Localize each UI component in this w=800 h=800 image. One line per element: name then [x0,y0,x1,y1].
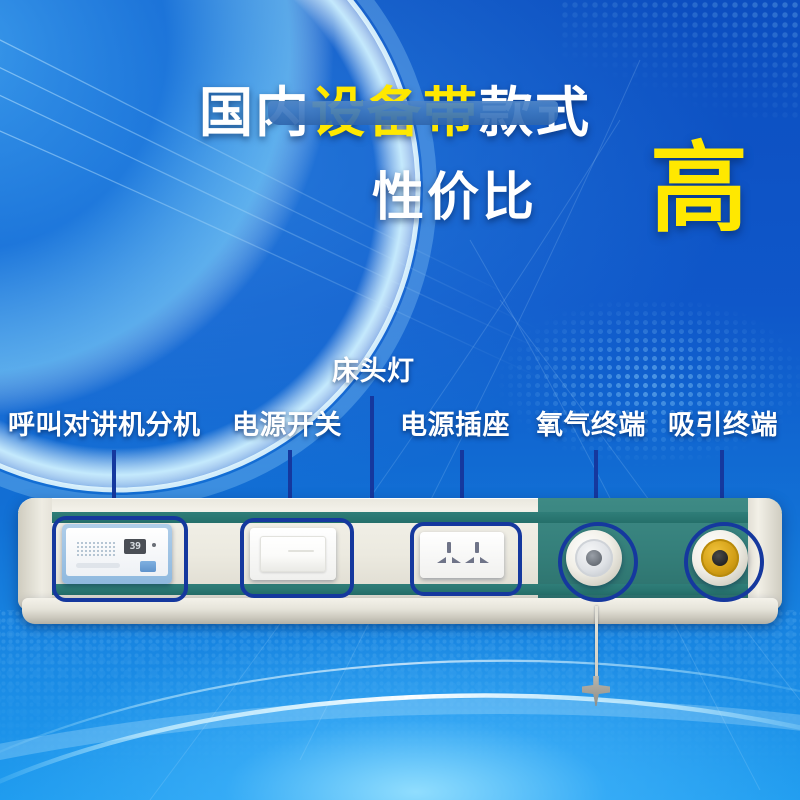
callout-circle-suction [684,522,764,602]
headline-line2-yellow: 高 [650,140,748,238]
panel-end-cap-left [18,498,52,610]
callout-label-nurse-call-intercom: 呼叫对讲机分机 [8,412,201,439]
callout-label-oxygen-terminal: 氧气终端 [536,412,646,439]
callout-label-power-switch: 电源开关 [232,412,342,439]
pull-cord[interactable] [595,606,598,684]
world-map-texture [0,610,800,800]
callout-circle-oxygen [558,522,638,602]
callout-box-socket [410,522,522,596]
promo-banner: 国内设备带款式 性价比 高 呼叫对讲机分机 电源开关 床头灯 电源插座 氧气终端… [0,0,800,800]
callout-box-intercom [52,516,188,602]
dot-matrix-right [470,300,800,480]
callout-box-switch [240,518,354,598]
headline-line2-white: 性价比 [372,172,537,224]
callout-label-power-socket: 电源插座 [400,412,510,439]
headline-line-2: 性价比 高 [0,166,800,266]
panel-rail-protective-film [268,101,558,125]
callout-label-suction-terminal: 吸引终端 [668,412,778,439]
callout-label-bed-lamp: 床头灯 [332,358,415,385]
